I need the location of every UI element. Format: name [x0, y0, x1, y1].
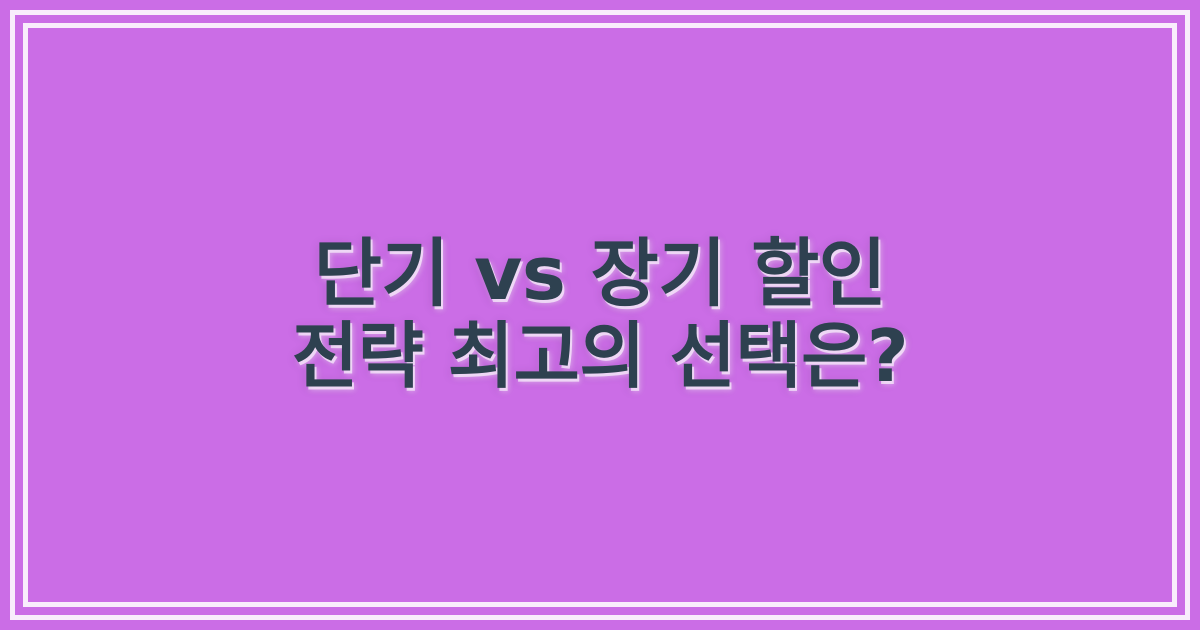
- page-title: 단기 vs 장기 할인 전략 최고의 선택은?: [292, 233, 908, 397]
- thumbnail-card: 단기 vs 장기 할인 전략 최고의 선택은?: [0, 0, 1200, 630]
- title-block: 단기 vs 장기 할인 전략 최고의 선택은?: [0, 0, 1200, 630]
- title-line-1: 단기 vs 장기 할인: [292, 233, 908, 316]
- title-line-2: 전략 최고의 선택은?: [292, 316, 908, 397]
